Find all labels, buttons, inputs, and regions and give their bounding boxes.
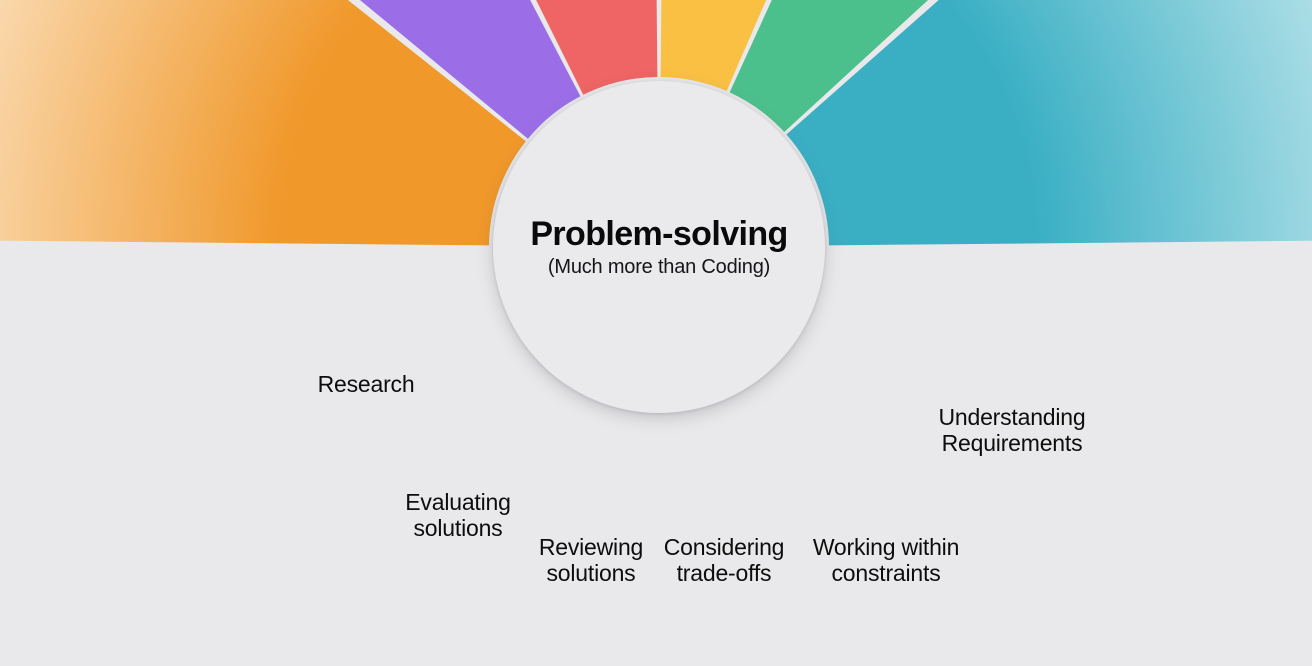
- hub-circle: Problem-solving (Much more than Coding): [493, 81, 825, 413]
- diagram-canvas: ResearchEvaluatingsolutionsReviewingsolu…: [0, 0, 1312, 666]
- hub-subtitle: (Much more than Coding): [548, 256, 770, 279]
- hub-title: Problem-solving: [530, 215, 787, 254]
